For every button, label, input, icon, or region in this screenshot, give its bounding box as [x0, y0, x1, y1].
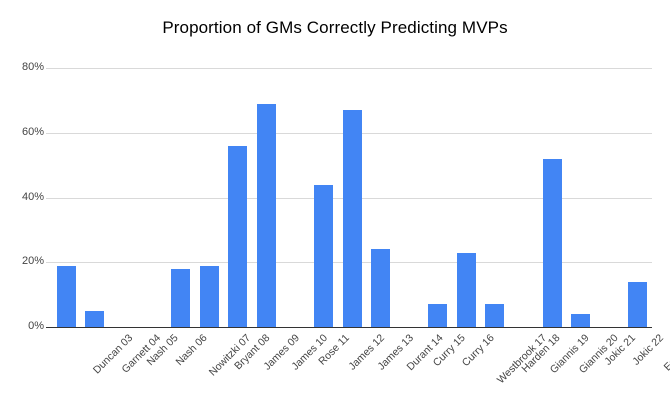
- bar[interactable]: [85, 311, 104, 327]
- bar[interactable]: [571, 314, 590, 327]
- x-axis-tick-label: Nash 06: [173, 332, 209, 368]
- y-axis-tick-label: 40%: [0, 191, 44, 203]
- bar[interactable]: [343, 110, 362, 327]
- x-axis-baseline: [52, 327, 652, 328]
- y-axis-tick-label: 0%: [0, 320, 44, 332]
- bar[interactable]: [228, 146, 247, 327]
- bar[interactable]: [257, 104, 276, 327]
- bar[interactable]: [543, 159, 562, 327]
- x-axis-labels: Duncan 03Garnett 04Nash 05Nash 06Nowitzk…: [52, 330, 652, 415]
- bar[interactable]: [485, 304, 504, 327]
- y-axis-tick-mark: [46, 327, 52, 328]
- bar[interactable]: [428, 304, 447, 327]
- y-axis-tick-label: 20%: [0, 255, 44, 267]
- y-axis-tick-mark: [46, 68, 52, 69]
- y-axis-tick-mark: [46, 262, 52, 263]
- bar[interactable]: [457, 253, 476, 327]
- y-axis-tick-label: 60%: [0, 126, 44, 138]
- gridline: [52, 68, 652, 69]
- y-axis-tick-mark: [46, 198, 52, 199]
- chart-title: Proportion of GMs Correctly Predicting M…: [0, 18, 670, 38]
- bar[interactable]: [628, 282, 647, 327]
- bar[interactable]: [200, 266, 219, 328]
- y-axis-tick-mark: [46, 133, 52, 134]
- bar[interactable]: [57, 266, 76, 328]
- bar[interactable]: [314, 185, 333, 327]
- bar[interactable]: [371, 249, 390, 327]
- plot-area: [52, 68, 652, 327]
- bar-chart: Proportion of GMs Correctly Predicting M…: [0, 0, 670, 415]
- bar[interactable]: [171, 269, 190, 327]
- y-axis-tick-label: 80%: [0, 61, 44, 73]
